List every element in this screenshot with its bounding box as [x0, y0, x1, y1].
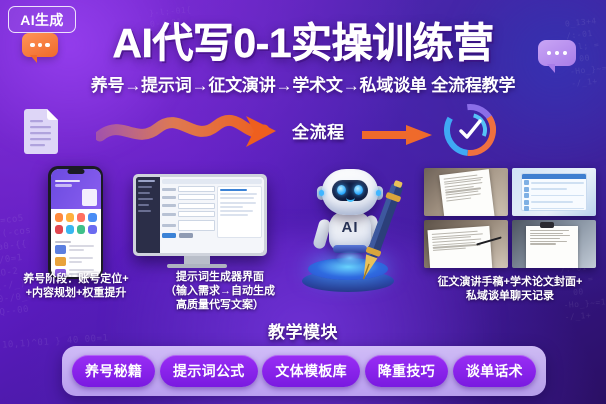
- page-title: AI代写0-1实操训练营: [0, 20, 606, 66]
- page-subtitle: 养号→提示词→征文演讲→学术文→私域谈单 全流程教学: [0, 71, 606, 96]
- module-pill-2[interactable]: 文体模板库: [262, 355, 360, 387]
- module-pill-0[interactable]: 养号秘籍: [72, 355, 155, 387]
- photo-grid: [424, 168, 596, 268]
- document-icon: [22, 108, 60, 156]
- desktop-screen: [136, 177, 264, 253]
- caption-middle: 提示词生成器界面 （输入需求→自动生成 高质量代写文案）: [150, 270, 290, 312]
- photo-chat-window: [512, 168, 596, 216]
- module-pill-3[interactable]: 降重技巧: [365, 355, 448, 387]
- poster-canvas: {/=co5 (-cos /a0-{{ 0/0=1 RO-2 (-/_) 0-/…: [0, 0, 606, 404]
- caption-left: 养号阶段：账号定位+ +内容规划+权重提升: [6, 272, 146, 300]
- photo-manuscript: [424, 168, 508, 216]
- code-texture-left: {/=co5 (-cos /a0-{{ 0/0=1 RO-2 (-/_) 0-/…: [0, 212, 42, 320]
- robot-chest-label: AI: [329, 219, 371, 236]
- desktop-mockup: [133, 174, 261, 260]
- phone-screen: [51, 169, 101, 277]
- module-pill-1[interactable]: 提示词公式: [160, 355, 258, 387]
- module-pill-bar: 养号秘籍 提示词公式 文体模板库 降重技巧 谈单话术: [62, 346, 546, 396]
- progress-ring-check-icon: [440, 100, 500, 160]
- photo-clipboard-laptop: [512, 220, 596, 268]
- module-pill-4[interactable]: 谈单话术: [453, 355, 536, 387]
- phone-mockup: [48, 166, 103, 279]
- caption-right: 征文演讲手稿+学术论文封面+ 私域谈单聊天记录: [418, 275, 602, 303]
- flow-label: 全流程: [292, 118, 345, 143]
- module-section-title: 教学模块: [0, 318, 606, 343]
- zigzag-arrow-icon: [96, 110, 286, 154]
- photo-desk-document: [424, 220, 508, 268]
- arrow-right-icon: [362, 124, 434, 146]
